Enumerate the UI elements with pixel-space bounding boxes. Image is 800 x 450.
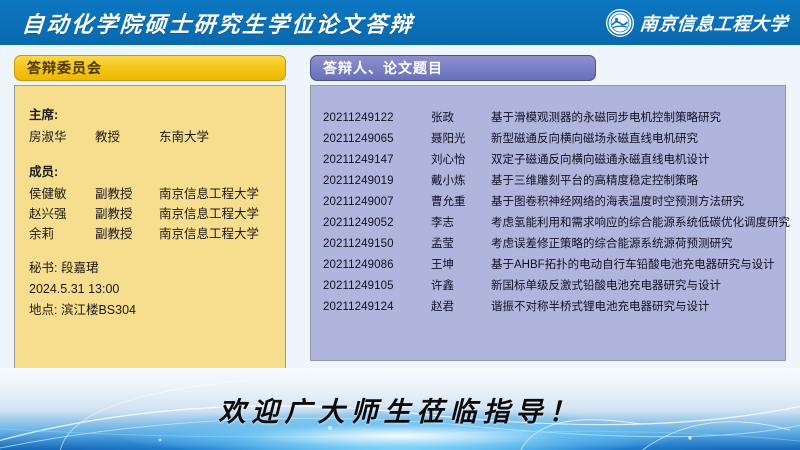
student-id: 20211249052 bbox=[323, 213, 431, 234]
student-name: 戴小炼 bbox=[431, 171, 491, 192]
university-brand: 南京信息工程大学 bbox=[606, 9, 792, 37]
member-name: 余莉 bbox=[29, 224, 95, 244]
defense-datetime: 2024.5.31 13:00 bbox=[29, 279, 285, 300]
thesis-title: 考虑氢能利用和需求响应的综合能源系统低碳优化调度研究 bbox=[491, 213, 790, 234]
student-name: 曹允重 bbox=[431, 192, 491, 213]
presentation-slide: 自动化学院硕士研究生学位论文答辩 南京信息工程大学 答辩委员会 主席: 房淑华 … bbox=[0, 0, 800, 450]
thesis-title: 基于滑模观测器的永磁同步电机控制策略研究 bbox=[491, 108, 785, 129]
table-row: 20211249122 张政 基于滑模观测器的永磁同步电机控制策略研究 bbox=[311, 108, 785, 129]
table-row: 20211249019 戴小炼 基于三维雕刻平台的高精度稳定控制策略 bbox=[311, 171, 785, 192]
university-emblem-icon bbox=[606, 9, 634, 37]
member-name: 赵兴强 bbox=[29, 204, 95, 224]
student-name: 赵君 bbox=[431, 297, 491, 318]
student-id: 20211249105 bbox=[323, 276, 431, 297]
student-id: 20211249122 bbox=[323, 108, 431, 129]
table-row: 20211249086 王坤 基于AHBF拓扑的电动自行车铅酸电池充电器研究与设… bbox=[311, 255, 785, 276]
student-name: 孟莹 bbox=[431, 234, 491, 255]
thesis-panel: 答辩人、论文题目 20211249122 张政 基于滑模观测器的永磁同步电机控制… bbox=[310, 55, 786, 361]
chair-name: 房淑华 bbox=[29, 127, 95, 147]
welcome-banner: 欢迎广大师生莅临指导！ bbox=[0, 368, 800, 450]
defense-location: 地点: 滨江楼BS304 bbox=[29, 300, 285, 321]
student-name: 聂阳光 bbox=[431, 129, 491, 150]
thesis-title: 新型磁通反向横向磁场永磁直线电机研究 bbox=[491, 129, 785, 150]
spacer bbox=[29, 147, 285, 161]
thesis-panel-body: 20211249122 张政 基于滑模观测器的永磁同步电机控制策略研究 2021… bbox=[310, 85, 786, 361]
members-label: 成员: bbox=[29, 161, 285, 180]
table-row: 20211249065 聂阳光 新型磁通反向横向磁场永磁直线电机研究 bbox=[311, 129, 785, 150]
student-name: 刘心怡 bbox=[431, 150, 491, 171]
student-name: 张政 bbox=[431, 108, 491, 129]
member-name: 侯健敏 bbox=[29, 184, 95, 204]
table-row: 20211249147 刘心怡 双定子磁通反向横向磁通永磁直线电机设计 bbox=[311, 150, 785, 171]
chair-title: 教授 bbox=[95, 127, 159, 147]
thesis-panel-heading: 答辩人、论文题目 bbox=[310, 55, 596, 81]
chair-row: 房淑华 教授 东南大学 bbox=[29, 127, 285, 147]
chair-label: 主席: bbox=[29, 104, 285, 123]
member-title: 副教授 bbox=[95, 224, 159, 244]
thesis-title: 新国标单级反激式铅酸电池充电器研究与设计 bbox=[491, 276, 785, 297]
member-org: 南京信息工程大学 bbox=[159, 184, 285, 204]
student-name: 李志 bbox=[431, 213, 491, 234]
committee-panel-heading: 答辩委员会 bbox=[14, 55, 286, 81]
student-name: 王坤 bbox=[431, 255, 491, 276]
thesis-title: 基于三维雕刻平台的高精度稳定控制策略 bbox=[491, 171, 785, 192]
spacer bbox=[29, 244, 285, 258]
committee-panel: 答辩委员会 主席: 房淑华 教授 东南大学 成员: 侯健敏 副教授 南京信息工程… bbox=[14, 55, 286, 379]
student-id: 20211249150 bbox=[323, 234, 431, 255]
table-row: 20211249150 孟莹 考虑误差修正策略的综合能源系统源荷预测研究 bbox=[311, 234, 785, 255]
member-title: 副教授 bbox=[95, 204, 159, 224]
table-row: 20211249052 李志 考虑氢能利用和需求响应的综合能源系统低碳优化调度研… bbox=[311, 213, 785, 234]
student-id: 20211249147 bbox=[323, 150, 431, 171]
member-row: 侯健敏 副教授 南京信息工程大学 bbox=[29, 184, 285, 204]
student-id: 20211249007 bbox=[323, 192, 431, 213]
thesis-title: 谐振不对称半桥式锂电池充电器研究与设计 bbox=[491, 297, 785, 318]
table-row: 20211249124 赵君 谐振不对称半桥式锂电池充电器研究与设计 bbox=[311, 297, 785, 318]
secretary-line: 秘书: 段嘉珺 bbox=[29, 258, 285, 279]
thesis-title: 双定子磁通反向横向磁通永磁直线电机设计 bbox=[491, 150, 785, 171]
student-name: 许鑫 bbox=[431, 276, 491, 297]
welcome-text: 欢迎广大师生莅临指导！ bbox=[0, 390, 800, 429]
member-title: 副教授 bbox=[95, 184, 159, 204]
thesis-title: 基于图卷积神经网络的海表温度时空预测方法研究 bbox=[491, 192, 785, 213]
member-org: 南京信息工程大学 bbox=[159, 204, 285, 224]
student-id: 20211249086 bbox=[323, 255, 431, 276]
university-name: 南京信息工程大学 bbox=[639, 10, 789, 36]
member-row: 赵兴强 副教授 南京信息工程大学 bbox=[29, 204, 285, 224]
slide-header: 自动化学院硕士研究生学位论文答辩 南京信息工程大学 bbox=[0, 0, 800, 47]
committee-panel-body: 主席: 房淑华 教授 东南大学 成员: 侯健敏 副教授 南京信息工程大学 赵兴强… bbox=[14, 85, 286, 379]
member-row: 余莉 副教授 南京信息工程大学 bbox=[29, 224, 285, 244]
chair-org: 东南大学 bbox=[159, 127, 285, 147]
member-org: 南京信息工程大学 bbox=[159, 224, 285, 244]
student-id: 20211249019 bbox=[323, 171, 431, 192]
thesis-title: 考虑误差修正策略的综合能源系统源荷预测研究 bbox=[491, 234, 785, 255]
page-title: 自动化学院硕士研究生学位论文答辩 bbox=[21, 7, 415, 39]
table-row: 20211249105 许鑫 新国标单级反激式铅酸电池充电器研究与设计 bbox=[311, 276, 785, 297]
student-id: 20211249065 bbox=[323, 129, 431, 150]
student-id: 20211249124 bbox=[323, 297, 431, 318]
thesis-title: 基于AHBF拓扑的电动自行车铅酸电池充电器研究与设计 bbox=[491, 255, 785, 276]
table-row: 20211249007 曹允重 基于图卷积神经网络的海表温度时空预测方法研究 bbox=[311, 192, 785, 213]
